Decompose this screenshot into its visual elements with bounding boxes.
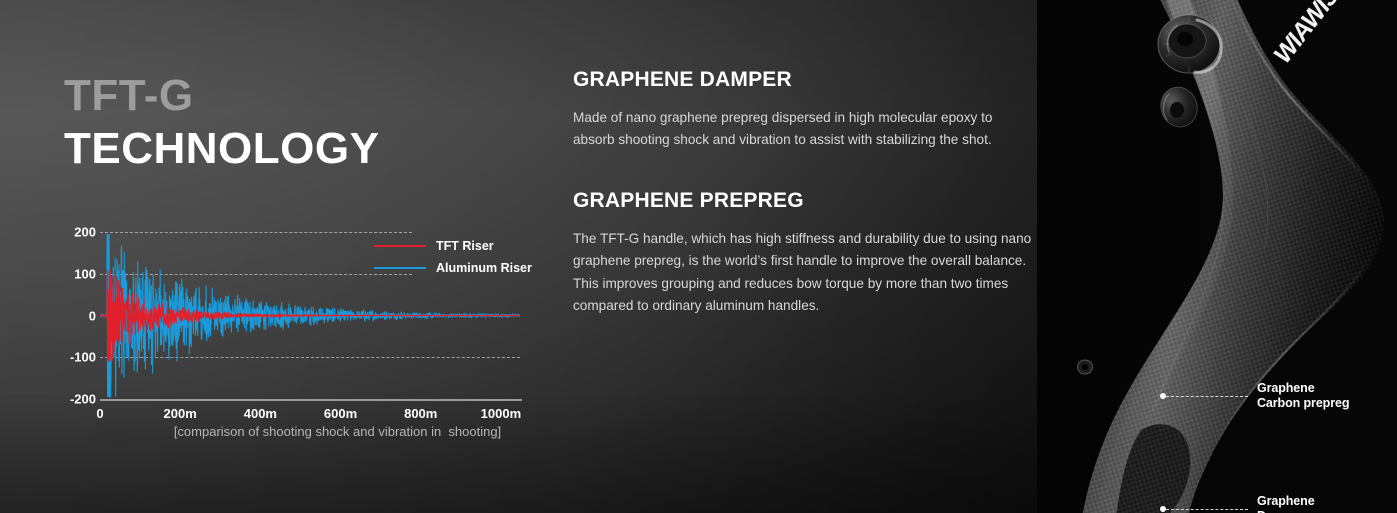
y-tick-label: 200 (52, 225, 96, 240)
x-tick-label: 1000m (481, 406, 521, 421)
chart-legend: TFT Riser Aluminum Riser (374, 235, 544, 279)
page-title: TFT-G TECHNOLOGY (64, 74, 379, 171)
feature-sections: GRAPHENE DAMPER Made of nano graphene pr… (573, 68, 1033, 355)
title-line-technology: TECHNOLOGY (64, 127, 379, 171)
section-graphene-prepreg: GRAPHENE PREPREG The TFT-G handle, which… (573, 189, 1033, 317)
chart-caption: [comparison of shooting shock and vibrat… (100, 424, 575, 439)
chart-x-axis-line (100, 399, 522, 401)
series-tft-riser (100, 270, 520, 362)
riser-screw-hole (1078, 360, 1093, 374)
y-tick-label: -100 (52, 350, 96, 365)
x-tick-label: 200m (164, 406, 197, 421)
x-tick-label: 800m (404, 406, 437, 421)
x-tick-label: 600m (324, 406, 357, 421)
x-tick-label: 0 (96, 406, 103, 421)
chart-y-axis: 200 100 0 -100 -200 (52, 232, 96, 399)
legend-swatch-blue (374, 267, 426, 269)
legend-swatch-red (374, 245, 426, 247)
section-body: The TFT-G handle, which has high stiffne… (573, 228, 1033, 317)
legend-item-aluminum-riser: Aluminum Riser (374, 257, 544, 279)
y-tick-label: -200 (52, 392, 96, 407)
x-tick-label: 400m (244, 406, 277, 421)
legend-label: TFT Riser (436, 239, 494, 253)
title-line-tft-g: TFT-G (64, 74, 379, 118)
tft-g-technology-panel: TFT-G TECHNOLOGY 200 100 0 -100 -200 0 2… (0, 0, 1397, 513)
chart-x-axis: 0 200m 400m 600m 800m 1000m (100, 406, 522, 426)
legend-item-tft-riser: TFT Riser (374, 235, 544, 257)
section-title: GRAPHENE DAMPER (573, 68, 1033, 92)
riser-limb-bolt (1158, 15, 1221, 73)
legend-label: Aluminum Riser (436, 261, 532, 275)
product-photo-riser: TFT-G TFT-G WIAWIS (1037, 0, 1397, 513)
riser-illustration: TFT-G TFT-G WIAWIS (1037, 0, 1397, 513)
section-title: GRAPHENE PREPREG (573, 189, 1033, 213)
y-tick-label: 100 (52, 266, 96, 281)
vibration-comparison-chart: 200 100 0 -100 -200 0 200m 400m 600m 800… (52, 226, 542, 441)
section-graphene-damper: GRAPHENE DAMPER Made of nano graphene pr… (573, 68, 1033, 151)
section-body: Made of nano graphene prepreg dispersed … (573, 107, 1033, 151)
y-tick-label: 0 (52, 308, 96, 323)
